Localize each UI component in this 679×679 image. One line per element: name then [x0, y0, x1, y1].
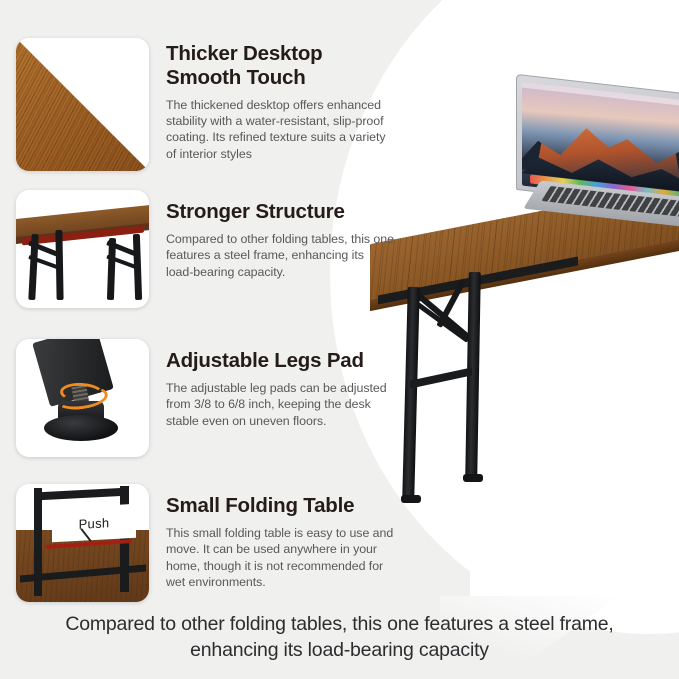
- feature-body: This small folding table is easy to use …: [166, 525, 394, 591]
- wood-grain-triangle: [16, 38, 149, 171]
- feature-text: Stronger Structure Compared to other fol…: [166, 190, 394, 280]
- frame-rail: [34, 488, 129, 501]
- wood-texture-thumbnail: [16, 38, 149, 171]
- feature-item: Stronger Structure Compared to other fol…: [16, 190, 394, 308]
- folding-mechanism-thumbnail: Push: [16, 484, 149, 602]
- adjustable-leg-pad-thumbnail: [16, 339, 149, 457]
- desk-leg: [402, 287, 420, 499]
- feature-body: The adjustable leg pads can be adjusted …: [166, 380, 394, 429]
- macos-menubar: [522, 82, 679, 107]
- feature-heading: Stronger Structure: [166, 200, 394, 224]
- feature-item: Adjustable Legs Pad The adjustable leg p…: [16, 339, 394, 457]
- pad-foot: [44, 415, 118, 441]
- laptop: [516, 84, 679, 234]
- feature-heading: Small Folding Table: [166, 494, 394, 518]
- feature-item: Push Small Folding Table This small fold…: [16, 484, 394, 602]
- push-callout-label: Push: [52, 504, 136, 542]
- feature-list: Thicker Desktop Smooth Touch The thicken…: [0, 0, 392, 600]
- infographic-canvas: Thicker Desktop Smooth Touch The thicken…: [0, 0, 679, 679]
- feature-heading: Adjustable Legs Pad: [166, 349, 394, 373]
- feature-text: Small Folding Table This small folding t…: [166, 484, 394, 590]
- leg-pad: [463, 474, 483, 482]
- leg-crossbar: [410, 367, 472, 388]
- steel-frame-underside-thumbnail: [16, 190, 149, 308]
- feature-text: Adjustable Legs Pad The adjustable leg p…: [166, 339, 394, 429]
- wood-diagonal-art: [16, 38, 149, 171]
- feature-item: Thicker Desktop Smooth Touch The thicken…: [16, 38, 394, 171]
- bottom-caption-text: Compared to other folding tables, this o…: [60, 612, 620, 663]
- feature-body: The thickened desktop offers enhanced st…: [166, 97, 394, 163]
- feature-body: Compared to other folding tables, this o…: [166, 231, 394, 280]
- bottom-caption: Compared to other folding tables, this o…: [0, 600, 679, 679]
- feature-text: Thicker Desktop Smooth Touch The thicken…: [166, 38, 394, 162]
- feature-heading: Thicker Desktop Smooth Touch: [166, 42, 394, 90]
- leg-pad: [401, 495, 421, 503]
